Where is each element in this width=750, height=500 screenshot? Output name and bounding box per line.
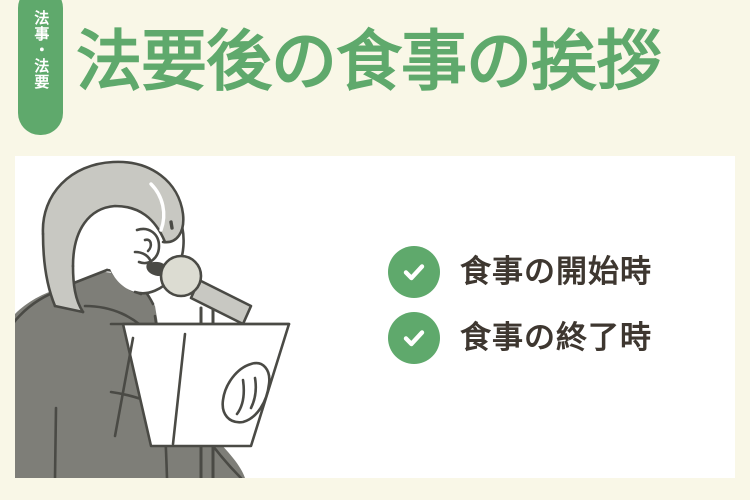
category-badge: 法事・法要 <box>18 0 63 135</box>
header: 法事・法要 法要後の食事の挨拶 <box>0 0 750 156</box>
checklist: 食事の開始時 食事の終了時 <box>388 246 718 364</box>
poster-root: 法事・法要 法要後の食事の挨拶 <box>0 0 750 500</box>
content-card: 食事の開始時 食事の終了時 <box>15 156 735 478</box>
list-item: 食事の終了時 <box>388 312 718 364</box>
podium-speaker-illustration <box>15 156 375 478</box>
checklist-label: 食事の終了時 <box>460 323 652 354</box>
list-item: 食事の開始時 <box>388 246 718 298</box>
check-circle-icon <box>388 246 440 298</box>
check-circle-icon <box>388 312 440 364</box>
page-title: 法要後の食事の挨拶 <box>76 26 746 97</box>
category-badge-label: 法事・法要 <box>31 10 51 90</box>
checklist-label: 食事の開始時 <box>460 257 652 288</box>
